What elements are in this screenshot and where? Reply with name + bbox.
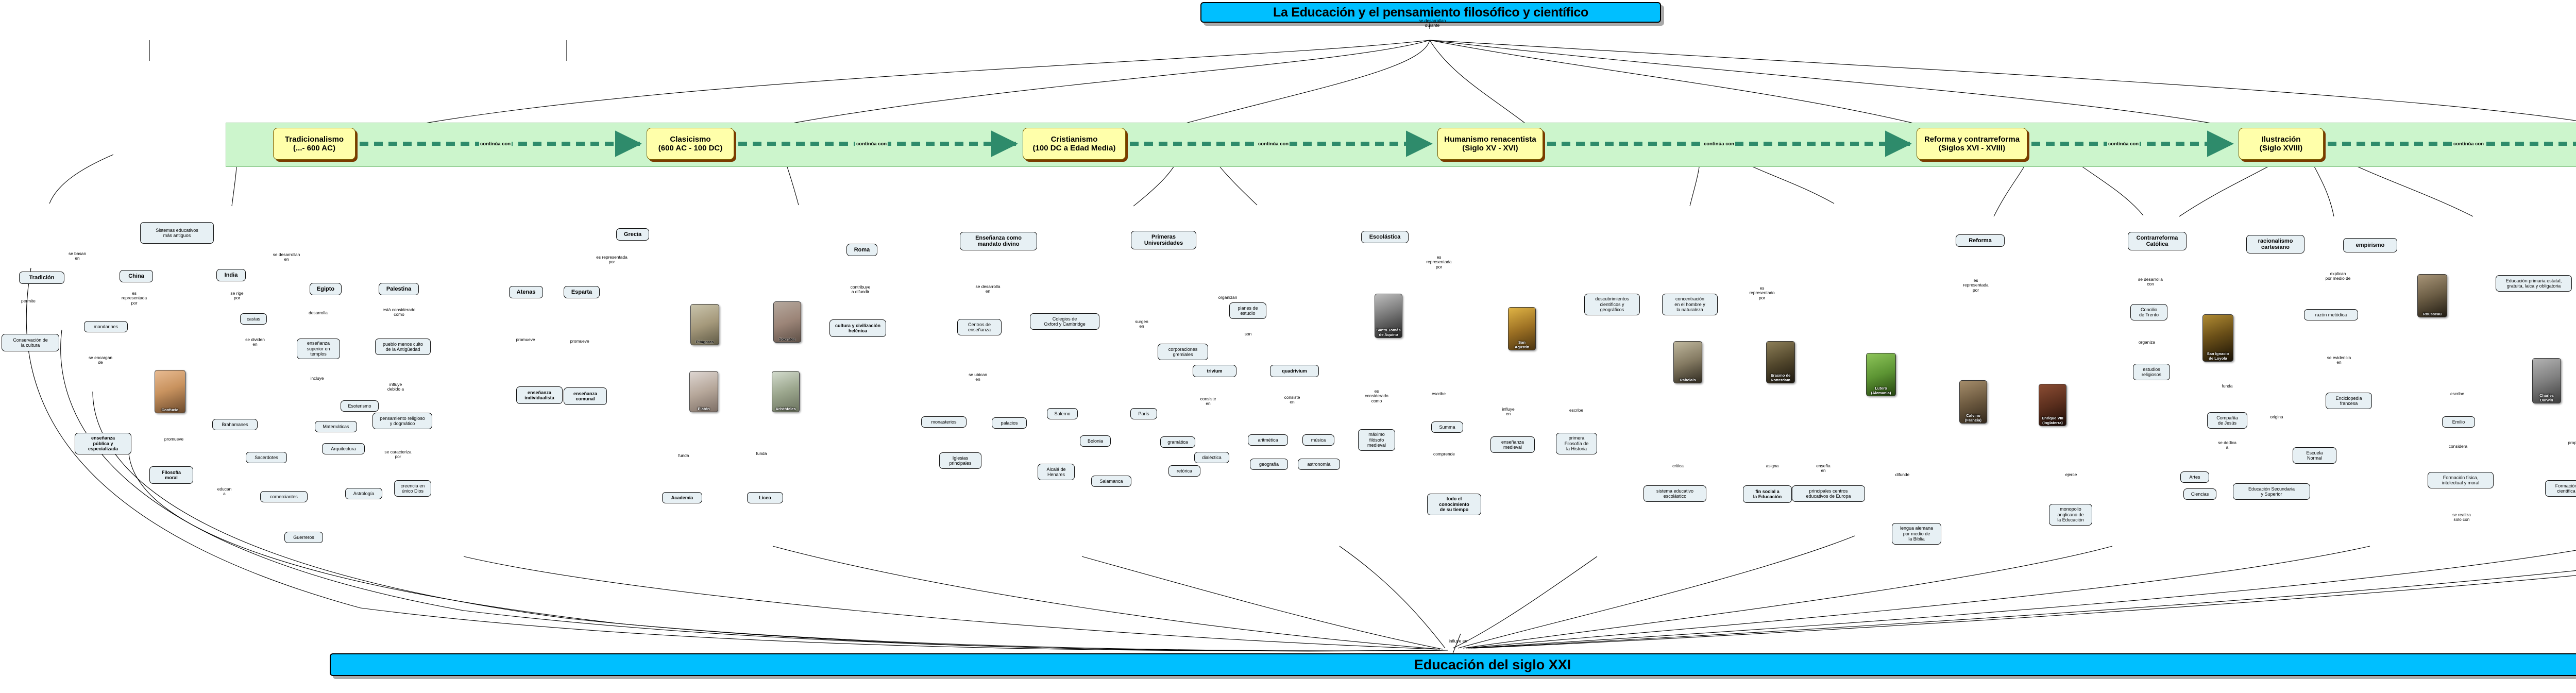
- portrait-caption: Charles Darwin: [2533, 394, 2561, 402]
- node-egipto[interactable]: Egipto: [310, 283, 342, 295]
- verb-se-dividen-en: se dividen en: [234, 337, 276, 347]
- node-oxford-cambridge[interactable]: Colegios de Oxford y Cambridge: [1030, 313, 1099, 330]
- node-monasterios[interactable]: monasterios: [921, 416, 967, 428]
- verb-se-basan-en: se basan en: [59, 251, 95, 261]
- portrait-caption: Sócrates: [774, 337, 801, 342]
- node-quadrivium[interactable]: quadrivium: [1270, 365, 1319, 377]
- portrait-lutero[interactable]: Lutero (Alemania): [1866, 353, 1896, 396]
- verb-se-desarrolla-con: se desarrolla con: [2127, 277, 2174, 287]
- verb-considera: considera: [2441, 444, 2475, 449]
- verb-es-representada-por-escolastica: es representada por: [1416, 255, 1462, 269]
- era-connector-5: continúa con: [2107, 141, 2140, 147]
- node-ensenanza-individualista[interactable]: enseñanza individualista: [516, 386, 563, 404]
- node-salerno[interactable]: Salerno: [1047, 408, 1078, 419]
- portrait-rousseau[interactable]: Rousseau: [2417, 274, 2447, 317]
- portrait-caption: Pitágoras: [691, 340, 719, 344]
- node-primeras-universidades[interactable]: Primeras Universidades: [1131, 231, 1196, 249]
- node-astrologia[interactable]: Astrología: [345, 488, 382, 499]
- era-connector-4: continúa con: [1703, 141, 1735, 147]
- node-descubrimientos-cientificos[interactable]: descubrimientos científicos y geográfico…: [1584, 294, 1640, 315]
- node-atenas[interactable]: Atenas: [509, 286, 543, 298]
- portrait-caption: Santo Tomás de Aquino: [1375, 328, 1402, 337]
- portrait-caption: Aristóteles: [772, 407, 799, 411]
- verb-son: son: [1239, 332, 1257, 336]
- portrait-image-rousseau: [2418, 275, 2447, 317]
- node-contrarreforma-catolica[interactable]: Contrarreforma Católica: [2128, 232, 2187, 250]
- verb-esta-considerado-como: está considerado como: [372, 308, 426, 317]
- node-ensenanza-comunal[interactable]: enseñanza comunal: [564, 387, 607, 405]
- node-pueblo-menos-culto[interactable]: pueblo menos culto de la Antigüedad: [375, 339, 431, 355]
- portrait-santo-tomas-de-aquino[interactable]: Santo Tomás de Aquino: [1375, 294, 1402, 338]
- verb-proponen: proponen: [2561, 441, 2576, 445]
- node-concentracion-hombre[interactable]: concentración en el hombre y la naturale…: [1662, 294, 1718, 315]
- node-racionalismo-cartesiano[interactable]: racionalismo cartesiano: [2246, 235, 2304, 253]
- node-empirismo[interactable]: empirismo: [2343, 238, 2397, 252]
- portrait-caption: Confucio: [155, 408, 185, 412]
- era-box-tradicionalismo[interactable]: Tradicionalismo (...- 600 AC): [273, 128, 355, 160]
- verb-escribe-emilio: escribe: [2443, 392, 2471, 396]
- verb-funda-liceo: funda: [749, 451, 774, 456]
- verb-funda-compania: funda: [2214, 384, 2240, 388]
- node-astronomia[interactable]: astronomía: [1298, 459, 1340, 470]
- verb-funda-academia: funda: [671, 453, 697, 458]
- verb-se-evidencia-en: se evidencia en: [2317, 356, 2361, 365]
- node-palestina[interactable]: Palestina: [379, 283, 419, 295]
- node-comerciantes[interactable]: comerciantes: [260, 491, 308, 502]
- verb-contribuye-a-difundir: contribuye a difundir: [837, 285, 884, 295]
- node-esparta[interactable]: Esparta: [564, 286, 600, 298]
- node-brahamanes[interactable]: Brahamanes: [212, 419, 258, 430]
- verb-root: se desarrollan durante: [1412, 19, 1453, 28]
- node-formacion-fisica-intelectual[interactable]: Formación física, intelectual y moral: [2428, 472, 2494, 488]
- portrait-caption: San Ignacio de Loyola: [2203, 352, 2233, 361]
- verb-se-rige-por: se rige por: [219, 291, 255, 301]
- portrait-aristoteles[interactable]: Aristóteles: [772, 371, 800, 412]
- node-sacerdotes[interactable]: Sacerdotes: [246, 452, 287, 463]
- verb-es-representada-por-china: es representada por: [112, 291, 156, 306]
- verb-incluye: incluye: [303, 376, 331, 381]
- node-enciclopedia-francesa[interactable]: Enciclopedia francesa: [2326, 393, 2372, 409]
- node-artes[interactable]: Artes: [2180, 471, 2209, 483]
- portrait-san-ignacio-de-loyola[interactable]: San Ignacio de Loyola: [2202, 314, 2233, 362]
- node-pensamiento-religioso[interactable]: pensamiento religioso y dogmático: [372, 413, 432, 429]
- node-maximo-filosofo-medieval[interactable]: máximo filósofo medieval: [1358, 429, 1395, 451]
- portrait-image-confucio: [155, 370, 185, 413]
- node-india[interactable]: India: [216, 269, 246, 281]
- verb-influye-en-san-agustin: influye en: [1494, 407, 1522, 417]
- node-guerreros[interactable]: Guerreros: [284, 532, 323, 543]
- node-escolastica[interactable]: Escolástica: [1361, 231, 1409, 243]
- verb-promueve-confucio: promueve: [157, 437, 191, 442]
- verb-comprende: comprende: [1426, 452, 1462, 457]
- era-box-humanismo[interactable]: Humanismo renacentista (Siglo XV - XVI): [1437, 128, 1543, 160]
- node-filosofia-moral[interactable]: Filosofía moral: [149, 466, 193, 484]
- node-centros-ensenanza[interactable]: Centros de enseñanza: [957, 319, 1002, 335]
- node-formacion-cientifica[interactable]: Formación científica: [2545, 480, 2576, 497]
- verb-explican-por-medio-de: explican por medio de: [2313, 272, 2363, 281]
- node-corporaciones-gremiales[interactable]: corporaciones gremiales: [1158, 344, 1208, 360]
- node-fin-social-educacion[interactable]: fin social a la Educación: [1743, 485, 1792, 503]
- verb-se-desarrollan-en: se desarrollan en: [263, 252, 310, 262]
- node-primera-filosofia-historia[interactable]: primera Filosofía de la Historia: [1556, 433, 1597, 454]
- node-ensenanza-mandato-divino[interactable]: Enseñanza como mandato divino: [960, 232, 1037, 250]
- verb-se-ubican-en: se ubican en: [957, 373, 998, 382]
- node-retorica[interactable]: retórica: [1168, 465, 1200, 477]
- portrait-caption: Rabelais: [1674, 378, 1702, 382]
- verb-organiza: organiza: [2131, 340, 2162, 345]
- node-grecia[interactable]: Grecia: [616, 228, 649, 241]
- verb-surgen-en: surgen en: [1126, 319, 1158, 329]
- node-monopolio-anglicano[interactable]: monopolio anglicano de la Educación: [2049, 504, 2092, 526]
- timeline-band: [226, 123, 2576, 167]
- portrait-caption: San Agustín: [1509, 341, 1535, 349]
- node-musica[interactable]: música: [1302, 434, 1334, 446]
- node-compania-de-jesus[interactable]: Compañía de Jesús: [2207, 412, 2247, 429]
- verb-organizan: organizan: [1211, 295, 1245, 300]
- portrait-erasmo-de-rotterdam[interactable]: Erasmo de Rotterdam: [1766, 341, 1795, 383]
- portrait-caption: Enrique VIII (Inglaterra): [2039, 416, 2066, 425]
- node-planes-estudio[interactable]: planes de estudio: [1229, 302, 1266, 319]
- node-sistemas-educativos[interactable]: Sistemas educativos más antiguos: [140, 222, 214, 244]
- verb-origina: origina: [2263, 415, 2290, 419]
- portrait-platon[interactable]: Platón: [689, 371, 718, 412]
- verb-se-caracteriza-por: se caracteriza por: [374, 450, 422, 460]
- era-connector-6: continúa con: [2452, 141, 2485, 147]
- era-connector-2: continúa con: [855, 141, 888, 147]
- node-conservacion-cultura[interactable]: Conservación de la cultura: [2, 334, 59, 351]
- portrait-caption: Platón: [690, 407, 718, 411]
- portrait-enrique-viii[interactable]: Enrique VIII (Inglaterra): [2039, 384, 2066, 426]
- node-alcala-henares[interactable]: Alcalá de Henares: [1038, 464, 1075, 480]
- concept-map-canvas: La Educación y el pensamiento filosófico…: [0, 0, 2576, 693]
- verb-difunde: difunde: [1888, 472, 1917, 477]
- era-connector-3: continúa con: [1257, 141, 1290, 147]
- portrait-confucio[interactable]: Confucio: [155, 370, 185, 413]
- node-china[interactable]: China: [120, 270, 153, 282]
- verb-permite: permite: [13, 299, 44, 303]
- portrait-caption: Calvino (Francia): [1960, 414, 1987, 422]
- portrait-rabelais[interactable]: Rabelais: [1673, 341, 1702, 383]
- verb-influye-debido-a: influye debido a: [375, 382, 416, 392]
- node-esoterismo[interactable]: Esoterismo: [341, 400, 379, 412]
- node-todo-conocimiento[interactable]: todo el conocimiento de su tiempo: [1427, 494, 1481, 515]
- node-estudios-religiosos[interactable]: estudios religiosos: [2133, 364, 2170, 380]
- portrait-image-platon: [690, 371, 718, 412]
- portrait-calvino[interactable]: Calvino (Francia): [1959, 380, 1987, 424]
- node-salamanca[interactable]: Salamanca: [1091, 476, 1131, 487]
- node-ensenanza-templos[interactable]: enseñanza superior en templos: [297, 339, 340, 359]
- verb-se-encargan-de: se encargan de: [80, 356, 121, 365]
- era-box-reforma[interactable]: Reforma y contrarreforma (Siglos XVI - X…: [1917, 128, 2027, 160]
- node-tradicion[interactable]: Tradición: [19, 272, 64, 284]
- node-reforma[interactable]: Reforma: [1956, 234, 2005, 247]
- node-liceo[interactable]: Liceo: [747, 492, 783, 503]
- node-ciencias[interactable]: Ciencias: [2183, 488, 2216, 500]
- node-paris[interactable]: París: [1130, 408, 1157, 419]
- node-principales-centros-europa[interactable]: principales centros educativos de Europa: [1792, 485, 1865, 502]
- verb-consiste-en-quadrivium: consiste en: [1274, 395, 1310, 405]
- node-educacion-primaria-estatal[interactable]: Educación primaria estatal, gratuita, la…: [2496, 275, 2572, 292]
- node-educacion-secundaria-superior[interactable]: Educación Secundaria y Superior: [2233, 483, 2310, 500]
- portrait-image-rabelais: [1674, 342, 1702, 383]
- node-trivium[interactable]: trivium: [1193, 365, 1236, 377]
- node-concilio-trento[interactable]: Concilio de Trento: [2130, 304, 2167, 320]
- verb-promueve-atenas: promueve: [507, 337, 544, 342]
- node-mandarines[interactable]: mandarines: [84, 321, 128, 332]
- node-ensenanza-publica[interactable]: enseñanza pública y especializada: [75, 433, 131, 454]
- portrait-socrates[interactable]: Sócrates: [773, 301, 801, 343]
- portrait-image-socrates: [774, 302, 801, 342]
- node-roma[interactable]: Roma: [846, 244, 877, 256]
- verb-desarrolla: desarrolla: [301, 311, 335, 315]
- node-escuela-normal[interactable]: Escuela Normal: [2293, 447, 2336, 464]
- verb-es-considerado-como: es considerado como: [1354, 389, 1399, 403]
- node-gramatica[interactable]: gramática: [1160, 436, 1195, 448]
- verb-bottom: influye en: [1440, 639, 1476, 644]
- node-dialectica[interactable]: dialéctica: [1194, 452, 1229, 463]
- portrait-san-agustin[interactable]: San Agustín: [1508, 307, 1536, 350]
- portrait-image-aristoteles: [772, 371, 799, 412]
- era-box-clasicismo[interactable]: Clasicismo (600 AC - 100 DC): [647, 128, 734, 160]
- verb-educan-a: educan a: [210, 487, 239, 497]
- verb-es-representada-por-grecia: es representada por: [587, 255, 636, 265]
- node-cultura-helenica[interactable]: cultura y civilización helénica: [829, 319, 886, 337]
- node-arquitectura[interactable]: Arquitectura: [322, 443, 365, 454]
- portrait-caption: Rousseau: [2418, 312, 2447, 316]
- verb-promueve-esparta: promueve: [562, 339, 598, 344]
- portrait-charles-darwin[interactable]: Charles Darwin: [2532, 358, 2561, 403]
- verb-consiste-en-trivium: consiste en: [1190, 397, 1226, 407]
- node-palacios[interactable]: palacios: [992, 417, 1027, 429]
- portrait-caption: Lutero (Alemania): [1867, 386, 1895, 395]
- verb-se-desarrolla-en: se desarrolla en: [963, 284, 1012, 294]
- node-iglesias-principales[interactable]: Iglesias principales: [939, 452, 981, 469]
- verb-es-representado-por-humanismo: es representado por: [1739, 286, 1785, 300]
- era-box-ilustracion[interactable]: Ilustración (Siglo XVIII): [2239, 128, 2324, 160]
- bottom-title: Educación del siglo XXI: [330, 653, 2576, 676]
- node-ensenanza-medieval[interactable]: enseñanza medieval: [1490, 436, 1535, 453]
- node-matematicas[interactable]: Matemáticas: [315, 421, 357, 432]
- verb-critica: critica: [1665, 464, 1691, 468]
- node-lengua-alemana-biblia[interactable]: lengua alemana por medio de la Biblia: [1892, 523, 1941, 545]
- node-sistema-educativo-escolastico[interactable]: sistema educativo escolástico: [1643, 485, 1706, 502]
- node-creencia-unico-dios[interactable]: creencia en único Dios: [394, 480, 431, 497]
- verb-es-representada-por-reforma: es representada por: [1953, 278, 1999, 293]
- portrait-pitagoras[interactable]: Pitágoras: [690, 304, 719, 345]
- node-aritmetica[interactable]: aritmética: [1248, 434, 1288, 446]
- node-academia[interactable]: Academia: [662, 492, 702, 503]
- node-emilio[interactable]: Emilio: [2442, 416, 2475, 428]
- node-bolonia[interactable]: Bolonia: [1080, 435, 1111, 447]
- node-summa[interactable]: Summa: [1431, 421, 1463, 433]
- era-box-cristianismo[interactable]: Cristianismo (100 DC a Edad Media): [1023, 128, 1126, 160]
- verb-ejerce: ejerce: [2058, 472, 2084, 477]
- verb-se-dedica-a: se dedica a: [2210, 441, 2244, 450]
- node-razon-metodica[interactable]: razón metódica: [2304, 309, 2358, 320]
- verb-escribe-filosofia-historia: escribe: [1562, 408, 1590, 413]
- era-connector-1: continúa con: [479, 141, 512, 147]
- verb-escribe-summa: escribe: [1425, 392, 1453, 396]
- portrait-caption: Erasmo de Rotterdam: [1767, 374, 1794, 382]
- verb-ensena-en: enseña en: [1808, 464, 1838, 474]
- node-geografia[interactable]: geografía: [1250, 459, 1288, 470]
- node-castas[interactable]: castas: [240, 313, 267, 325]
- verb-asigna: asigna: [1759, 464, 1785, 468]
- verb-se-realiza-solo-con: se realiza solo con: [2441, 513, 2482, 522]
- portrait-image-pitagoras: [691, 305, 719, 345]
